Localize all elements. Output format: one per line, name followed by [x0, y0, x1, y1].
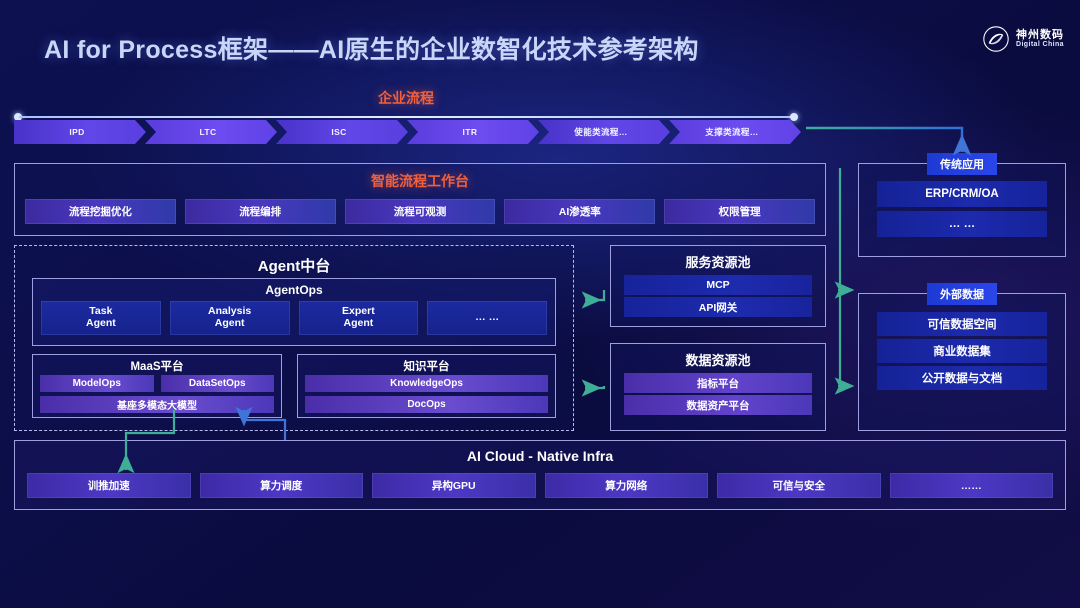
- workbench-item[interactable]: 流程挖掘优化: [25, 199, 176, 224]
- page-header: AI for Process框架——AI原生的企业数智化技术参考架构 神州数码 …: [0, 0, 1080, 80]
- data-pool-title: 数据资源池: [611, 350, 825, 369]
- process-step-label: ISC: [331, 127, 346, 137]
- agent-card-row: TaskAgentAnalysisAgentExpertAgent… …: [33, 297, 555, 335]
- connector-process-to-legacy: [806, 128, 962, 152]
- agent-card-line1: … …: [475, 312, 499, 324]
- enterprise-process-label: 企业流程: [0, 88, 812, 108]
- process-step[interactable]: LTC: [145, 120, 277, 144]
- data-pool-item-row: 指标平台数据资产平台: [611, 369, 825, 415]
- process-step-label: IPD: [69, 127, 84, 137]
- agent-card-line2: Agent: [344, 318, 374, 330]
- workbench-item[interactable]: 流程编排: [185, 199, 336, 224]
- service-pool-item[interactable]: MCP: [624, 275, 812, 295]
- agent-center-title: Agent中台: [15, 255, 573, 276]
- process-step[interactable]: 使能类流程…: [538, 120, 670, 144]
- service-resource-pool-panel: 服务资源池 MCPAPI网关: [610, 245, 826, 327]
- workbench-title: 智能流程工作台: [15, 171, 825, 191]
- workbench-item[interactable]: AI渗透率: [504, 199, 655, 224]
- service-pool-title: 服务资源池: [611, 252, 825, 271]
- agent-card[interactable]: ExpertAgent: [299, 301, 419, 335]
- process-step-label: ITR: [463, 127, 478, 137]
- agent-card-line2: Agent: [86, 318, 116, 330]
- infra-title: AI Cloud - Native Infra: [15, 448, 1065, 464]
- digital-china-swoosh-icon: [983, 26, 1009, 52]
- infra-item[interactable]: ……: [890, 473, 1054, 498]
- maas-ops-item[interactable]: DataSetOps: [161, 375, 275, 392]
- process-step-label: 使能类流程…: [574, 126, 627, 138]
- legacy-applications-panel: 传统应用 ERP/CRM/OA… …: [858, 163, 1066, 257]
- workbench-item[interactable]: 权限管理: [664, 199, 815, 224]
- maas-ops-item[interactable]: ModelOps: [40, 375, 154, 392]
- service-pool-item-row: MCPAPI网关: [611, 271, 825, 317]
- connector-service-pool-to-agent: [585, 290, 604, 300]
- infra-item[interactable]: 异构GPU: [372, 473, 536, 498]
- rail-line: [19, 116, 793, 119]
- logo-text-cn: 神州数码: [1016, 30, 1064, 42]
- infra-item[interactable]: 算力调度: [200, 473, 364, 498]
- process-step-label: LTC: [199, 127, 216, 137]
- infra-item[interactable]: 算力网络: [545, 473, 709, 498]
- intelligent-process-workbench-panel: 智能流程工作台 流程挖掘优化流程编排流程可观测AI渗透率权限管理: [14, 163, 826, 236]
- maas-base-model[interactable]: 基座多模态大模型: [40, 396, 274, 413]
- process-step[interactable]: IPD: [14, 120, 146, 144]
- connector-data-pool-to-agent: [585, 386, 604, 388]
- knowledge-platform-panel: 知识平台 KnowledgeOps DocOps: [297, 354, 556, 418]
- agent-center-panel: Agent中台 AgentOps TaskAgentAnalysisAgentE…: [14, 245, 574, 431]
- knowledge-title: 知识平台: [298, 358, 555, 374]
- infra-item[interactable]: 可信与安全: [717, 473, 881, 498]
- brand-logo: 神州数码 Digital China: [983, 26, 1064, 52]
- legacy-apps-tag: 传统应用: [927, 153, 997, 175]
- page-title: AI for Process框架——AI原生的企业数智化技术参考架构: [44, 30, 699, 66]
- process-step[interactable]: 支撑类流程…: [669, 120, 801, 144]
- infra-item[interactable]: 训推加速: [27, 473, 191, 498]
- process-chevron-bar: IPDLTCISCITR使能类流程…支撑类流程…: [14, 120, 800, 144]
- maas-ops-row: ModelOpsDataSetOps: [33, 374, 281, 392]
- process-step-label: 支撑类流程…: [705, 126, 758, 138]
- maas-base-row: 基座多模态大模型: [33, 392, 281, 413]
- external-data-panel: 外部数据 可信数据空间商业数据集公开数据与文档: [858, 293, 1066, 431]
- process-step[interactable]: ISC: [276, 120, 408, 144]
- agent-card[interactable]: … …: [427, 301, 547, 335]
- knowledge-ops-item[interactable]: KnowledgeOps: [305, 375, 548, 392]
- workbench-item-row: 流程挖掘优化流程编排流程可观测AI渗透率权限管理: [15, 191, 825, 224]
- data-pool-item[interactable]: 指标平台: [624, 373, 812, 393]
- knowledge-base-row: DocOps: [298, 392, 555, 413]
- legacy-app-item[interactable]: … …: [877, 211, 1047, 237]
- legacy-app-item[interactable]: ERP/CRM/OA: [877, 181, 1047, 207]
- knowledge-docops[interactable]: DocOps: [305, 396, 548, 413]
- external-data-item[interactable]: 可信数据空间: [877, 312, 1047, 336]
- data-pool-item[interactable]: 数据资产平台: [624, 395, 812, 415]
- logo-text-en: Digital China: [1016, 41, 1064, 48]
- ai-cloud-native-infra-panel: AI Cloud - Native Infra 训推加速算力调度异构GPU算力网…: [14, 440, 1066, 510]
- maas-platform-panel: MaaS平台 ModelOpsDataSetOps 基座多模态大模型: [32, 354, 282, 418]
- agent-card[interactable]: AnalysisAgent: [170, 301, 290, 335]
- workbench-item[interactable]: 流程可观测: [345, 199, 496, 224]
- agent-card[interactable]: TaskAgent: [41, 301, 161, 335]
- service-pool-item[interactable]: API网关: [624, 297, 812, 317]
- external-data-item-row: 可信数据空间商业数据集公开数据与文档: [859, 294, 1065, 390]
- external-data-item[interactable]: 商业数据集: [877, 339, 1047, 363]
- infra-item-row: 训推加速算力调度异构GPU算力网络可信与安全……: [15, 464, 1065, 498]
- external-data-tag: 外部数据: [927, 283, 997, 305]
- knowledge-ops-row: KnowledgeOps: [298, 374, 555, 392]
- maas-title: MaaS平台: [33, 358, 281, 374]
- external-data-item[interactable]: 公开数据与文档: [877, 366, 1047, 390]
- agent-card-line2: Agent: [215, 318, 245, 330]
- process-step[interactable]: ITR: [407, 120, 539, 144]
- agentops-title: AgentOps: [33, 283, 555, 297]
- data-resource-pool-panel: 数据资源池 指标平台数据资产平台: [610, 343, 826, 431]
- agentops-panel: AgentOps TaskAgentAnalysisAgentExpertAge…: [32, 278, 556, 346]
